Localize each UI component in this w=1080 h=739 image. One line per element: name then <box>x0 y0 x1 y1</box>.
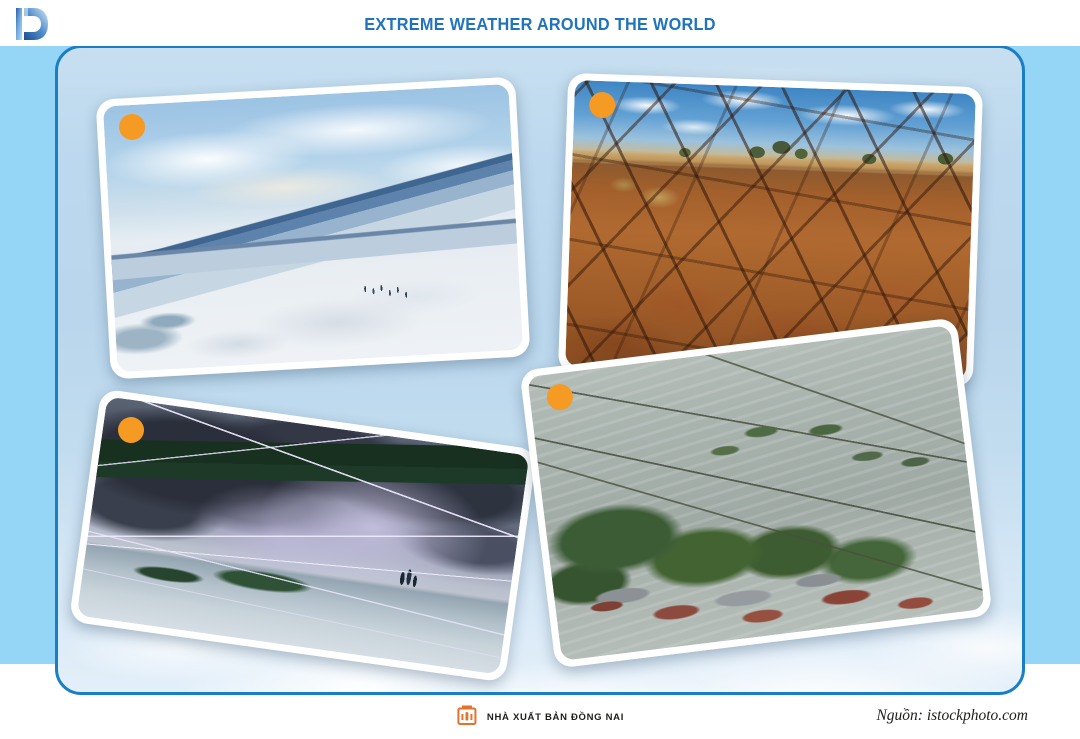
source-note: Nguồn: istockphoto.com <box>876 707 1028 725</box>
photo-hurricane-image <box>527 325 985 661</box>
photo-glacier-image <box>103 84 523 372</box>
page-footer: NHÀ XUẤT BẢN ĐỒNG NAI Nguồn: istockphoto… <box>0 695 1080 739</box>
page-header: EXTREME WEATHER AROUND THE WORLD <box>0 0 1080 46</box>
photo-card-glacier[interactable] <box>96 76 531 379</box>
publisher-credit: NHÀ XUẤT BẢN ĐỒNG NAI <box>456 703 624 732</box>
page-title: EXTREME WEATHER AROUND THE WORLD <box>38 14 1042 35</box>
book-logo-icon <box>456 703 478 732</box>
photo-collage-panel <box>55 45 1025 695</box>
photo-card-hurricane[interactable] <box>519 317 992 668</box>
publisher-name: NHÀ XUẤT BẢN ĐỒNG NAI <box>487 712 624 723</box>
